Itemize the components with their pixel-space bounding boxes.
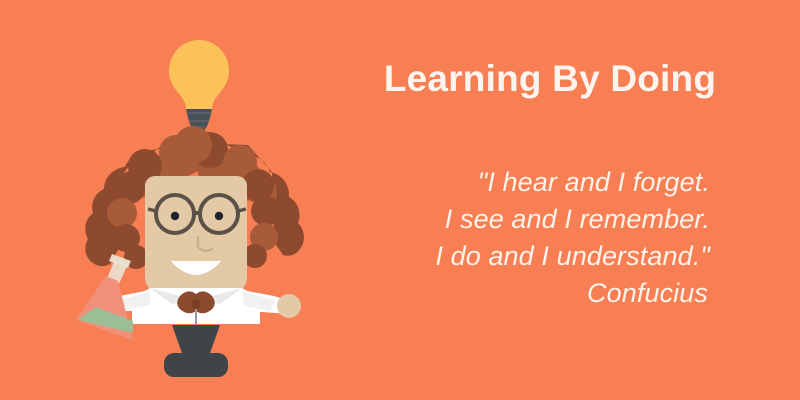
quote-line-3: I do and I understand." — [380, 238, 710, 275]
banner: Learning By Doing "I hear and I forget. … — [0, 0, 800, 400]
quote-attribution: Confucius — [380, 275, 710, 312]
quote-line-1: "I hear and I forget. — [380, 164, 710, 201]
page-title: Learning By Doing — [380, 58, 720, 100]
left-pupil — [171, 212, 179, 220]
right-pupil — [215, 212, 223, 220]
illustration-scientist — [0, 0, 380, 400]
quote-line-2: I see and I remember. — [380, 201, 710, 238]
right-hand — [277, 294, 301, 318]
text-block: Learning By Doing "I hear and I forget. … — [380, 0, 740, 400]
quote-block: "I hear and I forget. I see and I rememb… — [380, 164, 710, 312]
lightbulb-icon — [169, 40, 229, 133]
